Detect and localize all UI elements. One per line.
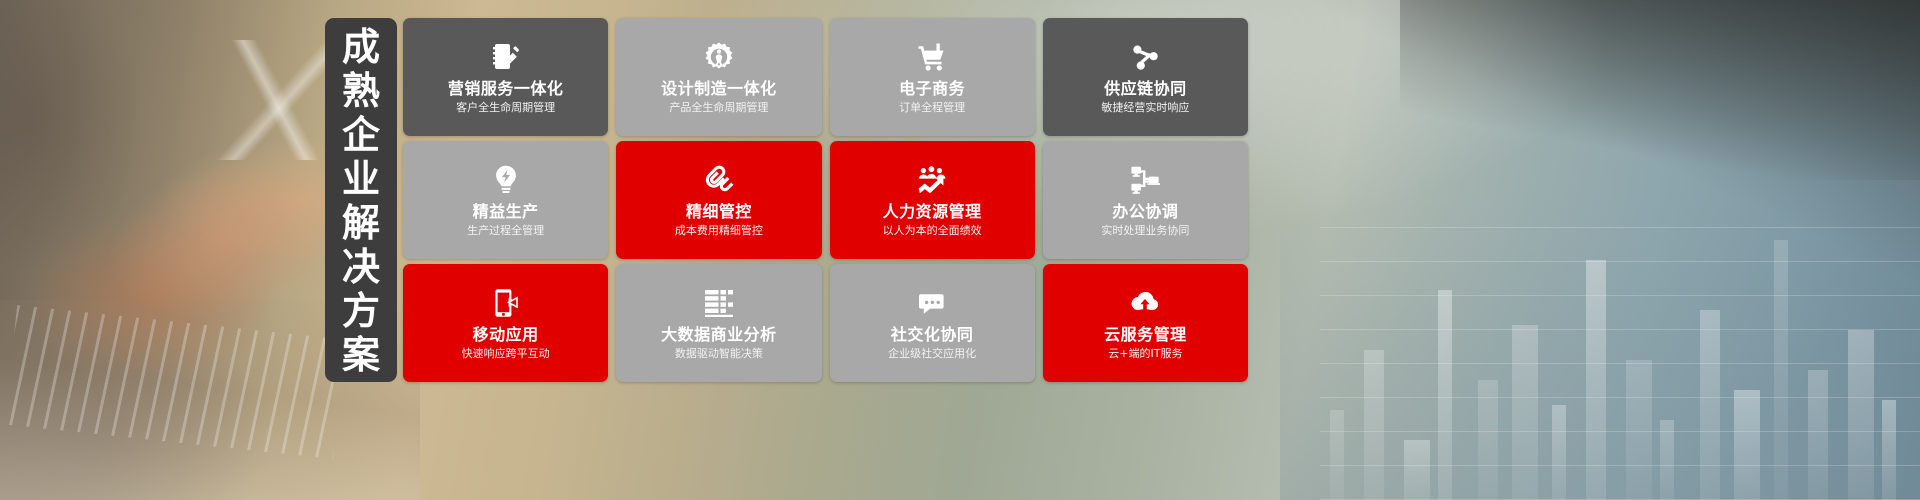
title-char-1: 熟 [342,72,380,110]
lightbulb-bolt-icon [489,163,523,197]
card-row-1: 精益生产生产过程全管理精细管控成本费用精细管控人力资源管理以人为本的全面绩效办公… [403,141,1248,259]
card-title: 大数据商业分析 [661,326,777,344]
solution-card-cloud-upload[interactable]: 云服务管理云+端的IT服务 [1043,264,1248,382]
solution-card-clipboard-pencil[interactable]: 营销服务一体化客户全生命周期管理 [403,18,608,136]
solution-card-grid: 营销服务一体化客户全生命周期管理设计制造一体化产品全生命周期管理电子商务订单全程… [403,18,1248,382]
card-subtitle: 云+端的IT服务 [1108,347,1182,360]
shopping-cart-download-icon [915,40,949,74]
paperclip-link-icon [702,163,736,197]
solution-card-paperclip-link[interactable]: 精细管控成本费用精细管控 [616,141,821,259]
connected-computers-icon [1128,163,1162,197]
card-subtitle: 实时处理业务协同 [1101,224,1189,237]
title-char-3: 业 [342,160,380,198]
card-title: 社交化协同 [891,326,974,344]
card-title: 电子商务 [899,80,965,98]
solution-card-mobile-device[interactable]: 移动应用快速响应跨平互动 [403,264,608,382]
title-char-4: 解 [342,204,380,242]
card-subtitle: 敏捷经营实时响应 [1101,101,1189,114]
title-char-6: 方 [342,292,380,330]
solution-card-connected-computers[interactable]: 办公协调实时处理业务协同 [1043,141,1248,259]
solution-card-gear-person[interactable]: 设计制造一体化产品全生命周期管理 [616,18,821,136]
card-title: 营销服务一体化 [448,80,564,98]
card-subtitle: 订单全程管理 [899,101,965,114]
card-row-0: 营销服务一体化客户全生命周期管理设计制造一体化产品全生命周期管理电子商务订单全程… [403,18,1248,136]
gear-person-icon [702,40,736,74]
title-char-0: 成 [342,28,380,66]
solution-card-data-server[interactable]: 大数据商业分析数据驱动智能决策 [616,264,821,382]
card-title: 办公协调 [1112,203,1178,221]
solution-card-shopping-cart-download[interactable]: 电子商务订单全程管理 [830,18,1035,136]
network-nodes-icon [1128,40,1162,74]
clipboard-pencil-icon [489,40,523,74]
solution-card-network-nodes[interactable]: 供应链协同敏捷经营实时响应 [1043,18,1248,136]
card-title: 精细管控 [686,203,752,221]
chat-bubbles-icon [915,286,949,320]
card-subtitle: 快速响应跨平互动 [462,347,550,360]
card-title: 云服务管理 [1104,326,1187,344]
card-subtitle: 成本费用精细管控 [675,224,763,237]
card-subtitle: 生产过程全管理 [467,224,544,237]
card-subtitle: 产品全生命周期管理 [669,101,768,114]
title-char-7: 案 [342,336,380,374]
card-title: 精益生产 [473,203,539,221]
cloud-upload-icon [1128,286,1162,320]
card-subtitle: 企业级社交应用化 [888,347,976,360]
title-char-2: 企 [342,116,380,154]
solution-card-people-growth-chart[interactable]: 人力资源管理以人为本的全面绩效 [830,141,1035,259]
people-growth-chart-icon [915,163,949,197]
card-title: 人力资源管理 [883,203,982,221]
mobile-device-icon [489,286,523,320]
title-char-5: 决 [342,248,380,286]
card-subtitle: 数据驱动智能决策 [675,347,763,360]
data-server-icon [702,286,736,320]
card-subtitle: 以人为本的全面绩效 [883,224,982,237]
solution-card-lightbulb-bolt[interactable]: 精益生产生产过程全管理 [403,141,608,259]
card-title: 供应链协同 [1104,80,1187,98]
card-title: 移动应用 [473,326,539,344]
section-title-panel: 成熟企业解决方案 [325,18,397,382]
card-subtitle: 客户全生命周期管理 [456,101,555,114]
solution-card-chat-bubbles[interactable]: 社交化协同企业级社交应用化 [830,264,1035,382]
card-row-2: 移动应用快速响应跨平互动大数据商业分析数据驱动智能决策社交化协同企业级社交应用化… [403,264,1248,382]
card-title: 设计制造一体化 [661,80,777,98]
